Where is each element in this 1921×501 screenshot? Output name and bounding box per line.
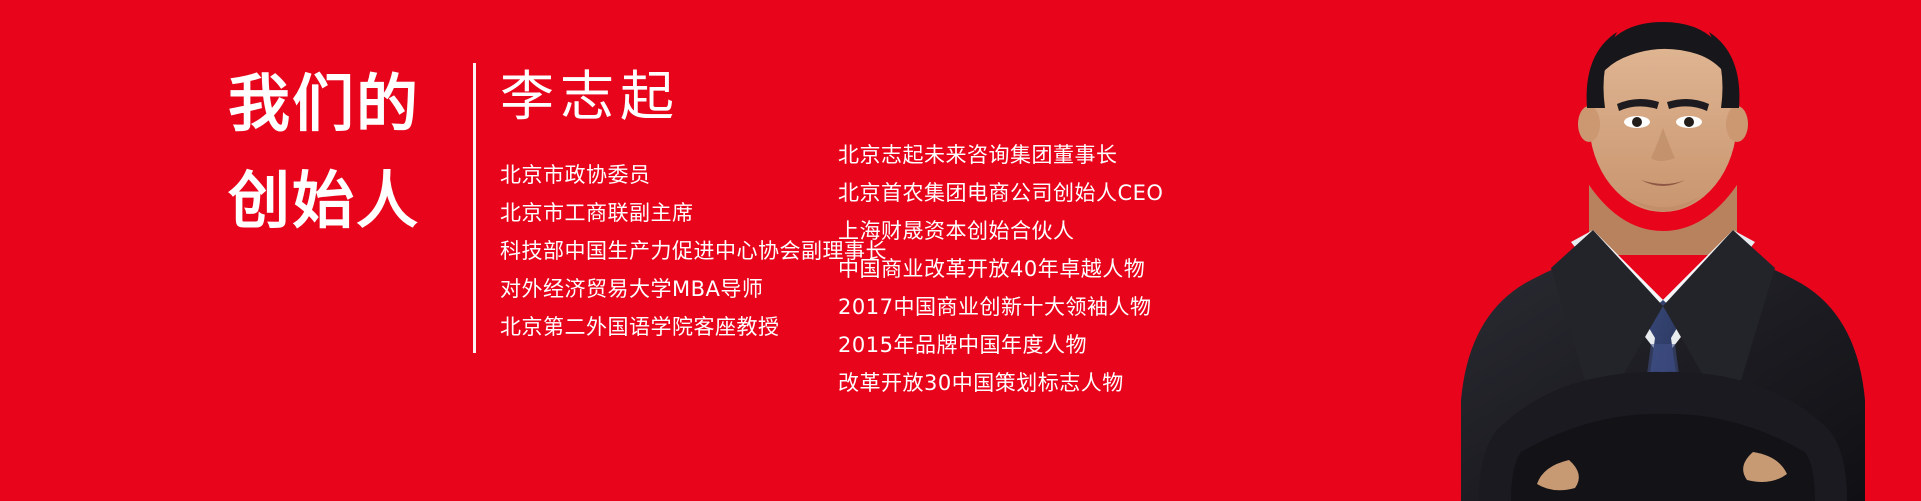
founder-banner: 我们的 创始人 李志起 北京市政协委员 北京市工商联副主席 科技部中国生产力促进… xyxy=(0,0,1921,501)
list-item: 改革开放30中国策划标志人物 xyxy=(838,364,1358,402)
vertical-divider xyxy=(473,63,476,353)
list-item: 2017中国商业创新十大领袖人物 xyxy=(838,288,1358,326)
list-item: 中国商业改革开放40年卓越人物 xyxy=(838,250,1358,288)
list-item: 2015年品牌中国年度人物 xyxy=(838,326,1358,364)
page-title-line-2: 创始人 xyxy=(228,152,458,249)
founder-name: 李志起 xyxy=(500,62,680,132)
founder-portrait-photo xyxy=(1401,0,1921,501)
list-item: 北京首农集团电商公司创始人CEO xyxy=(838,174,1358,212)
credentials-right-column: 北京志起未来咨询集团董事长 北京首农集团电商公司创始人CEO 上海财晟资本创始合… xyxy=(838,136,1358,402)
list-item: 北京志起未来咨询集团董事长 xyxy=(838,136,1358,174)
page-title: 我们的 创始人 xyxy=(228,55,458,249)
page-title-line-1: 我们的 xyxy=(228,55,458,152)
list-item: 上海财晟资本创始合伙人 xyxy=(838,212,1358,250)
